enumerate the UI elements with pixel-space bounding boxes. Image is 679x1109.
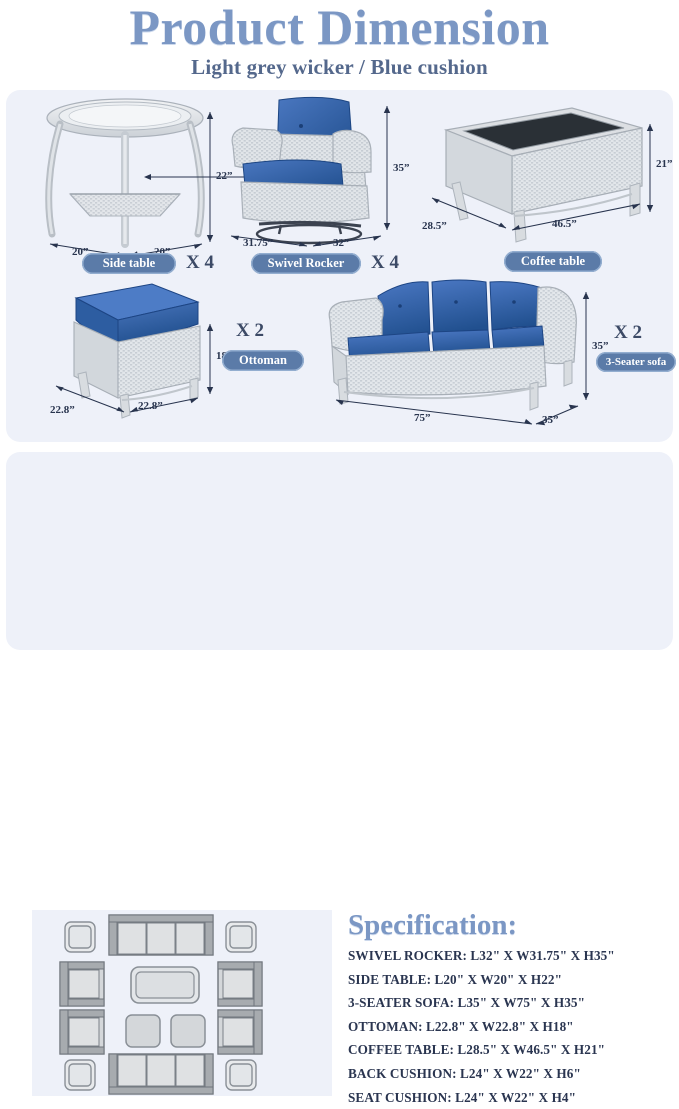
- spec-line-three-seater-sofa: 3-SEATER SOFA: L35" X W75" X H35": [348, 991, 678, 1015]
- coffee-table-dim-depth: 28.5”: [422, 220, 447, 232]
- sofa-qty: X 2: [614, 322, 642, 344]
- spec-line-coffee-table: COFFEE TABLE: L28.5" X W46.5" X H21": [348, 1038, 678, 1062]
- side-table-dimension-lines: [30, 94, 245, 274]
- plan-sofa-top: [109, 915, 213, 955]
- sofa-dim-width: 75”: [414, 412, 431, 424]
- spec-line-seat-cushion: SEAT CUSHION: L24" X W22" X H4": [348, 1086, 678, 1109]
- side-table-qty: X 4: [186, 252, 214, 274]
- ottoman-dim-width: 22.8”: [50, 404, 75, 416]
- side-table-label: Side table: [103, 256, 155, 271]
- sofa-dim-height: 35”: [592, 340, 609, 352]
- page-subtitle: Light grey wicker / Blue cushion: [0, 55, 679, 80]
- swivel-rocker-label: Swivel Rocker: [268, 256, 345, 271]
- swivel-rocker-dim-depth: 32”: [333, 237, 350, 249]
- floor-plan-diagram: [32, 910, 332, 1096]
- plan-armchair-left-top: [60, 962, 104, 1006]
- product-dimension-infographic: Product Dimension Light grey wicker / Bl…: [0, 0, 679, 656]
- header: Product Dimension Light grey wicker / Bl…: [0, 0, 679, 88]
- plan-coffee-table: [131, 967, 199, 1003]
- side-table-label-pill: Side table: [82, 253, 176, 274]
- sofa-label: 3-Seater sofa: [606, 356, 667, 368]
- coffee-table-label-pill: Coffee table: [504, 251, 602, 272]
- floor-plan-illustration: [32, 910, 332, 1096]
- coffee-table-dim-height: 21”: [656, 158, 673, 170]
- plan-armchair-right-bottom: [218, 1010, 262, 1054]
- product-swivel-rocker: 31.75” 32” 35” Swivel Rocker X 4: [221, 94, 421, 274]
- specification-block: Specification: SWIVEL ROCKER: L32" X W31…: [348, 908, 678, 1109]
- products-panel: 20” 20” 22” Side table X 4: [6, 90, 673, 442]
- swivel-rocker-dim-height: 35”: [393, 162, 410, 174]
- coffee-table-dim-width: 46.5”: [552, 218, 577, 230]
- sofa-label-pill: 3-Seater sofa: [596, 352, 676, 372]
- ottoman-label-pill: Ottoman: [222, 350, 304, 371]
- page-title: Product Dimension: [0, 0, 679, 56]
- ottoman-qty: X 2: [236, 320, 264, 342]
- spec-line-back-cushion: BACK CUSHION: L24" X W22" X H6": [348, 1062, 678, 1086]
- ottoman-label: Ottoman: [239, 353, 287, 368]
- product-side-table: 20” 20” 22” Side table X 4: [30, 94, 245, 274]
- product-ottoman: 22.8” 22.8” 18” X 2 Ottoman: [30, 276, 320, 436]
- swivel-rocker-qty: X 4: [371, 252, 399, 274]
- swivel-rocker-label-pill: Swivel Rocker: [251, 253, 361, 274]
- spec-line-swivel-rocker: SWIVEL ROCKER: L32" X W31.75" X H35": [348, 944, 678, 968]
- plan-armchair-right-top: [218, 962, 262, 1006]
- spec-line-side-table: SIDE TABLE: L20" X W20" X H22": [348, 968, 678, 992]
- coffee-table-label: Coffee table: [521, 254, 585, 269]
- ottoman-dim-depth: 22.8”: [138, 400, 163, 412]
- sofa-dim-depth: 35”: [542, 414, 559, 426]
- product-coffee-table: 28.5” 46.5” 21” Coffee table: [416, 94, 666, 274]
- spec-line-ottoman: OTTOMAN: L22.8" X W22.8" X H18": [348, 1015, 678, 1039]
- product-three-seater-sofa: 75” 35” 35” X 2 3-Seater sofa: [320, 276, 670, 436]
- coffee-table-dimension-lines: [416, 94, 666, 274]
- bottom-panel: Specification: SWIVEL ROCKER: L32" X W31…: [6, 452, 673, 650]
- plan-armchair-left-bottom: [60, 1010, 104, 1054]
- swivel-rocker-dim-width: 31.75”: [243, 237, 273, 249]
- specification-heading: Specification:: [348, 908, 678, 942]
- plan-sofa-bottom: [109, 1054, 213, 1094]
